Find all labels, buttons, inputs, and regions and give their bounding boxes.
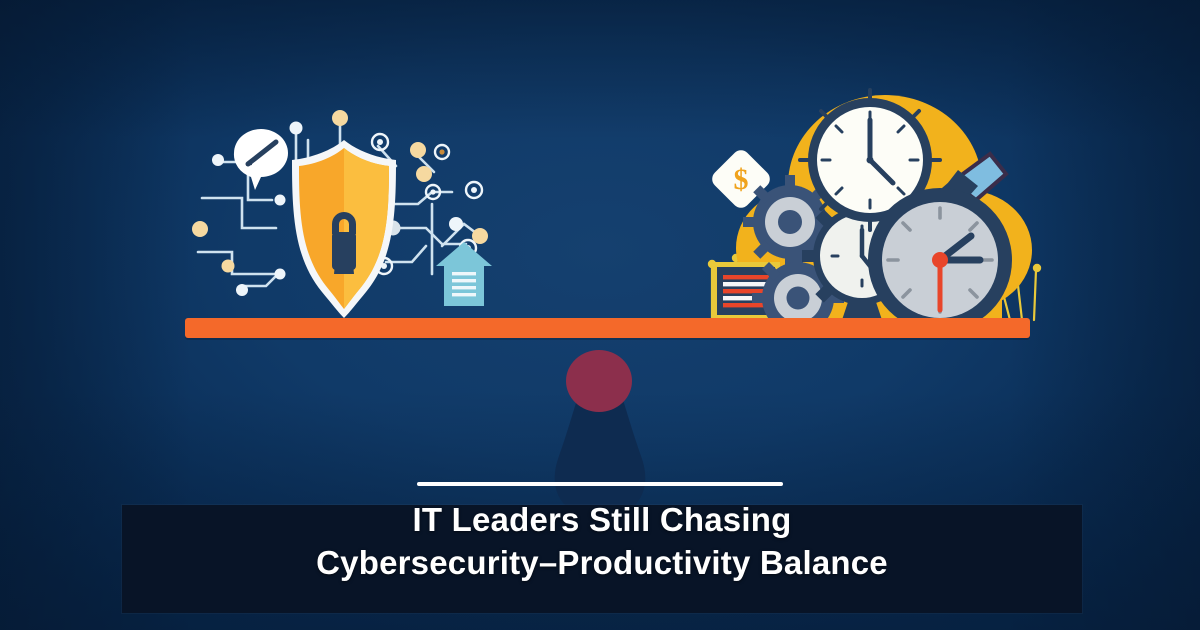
fulcrum-knob [566,350,632,412]
social-card: $ [0,0,1200,630]
svg-text:$: $ [734,163,749,196]
shield-lock-icon [292,140,396,318]
page-title-line-2: Cybersecurity–Productivity Balance [122,541,1082,584]
speech-bubble-icon [234,129,288,190]
cybersecurity-side-illustration [180,96,510,328]
page-title: IT Leaders Still Chasing Cybersecurity–P… [122,498,1082,584]
title-divider-rule [417,482,783,486]
productivity-side-illustration: $ [690,70,1050,330]
page-title-line-1: IT Leaders Still Chasing [122,498,1082,541]
balance-beam [185,318,1030,338]
server-house-icon [436,242,492,306]
